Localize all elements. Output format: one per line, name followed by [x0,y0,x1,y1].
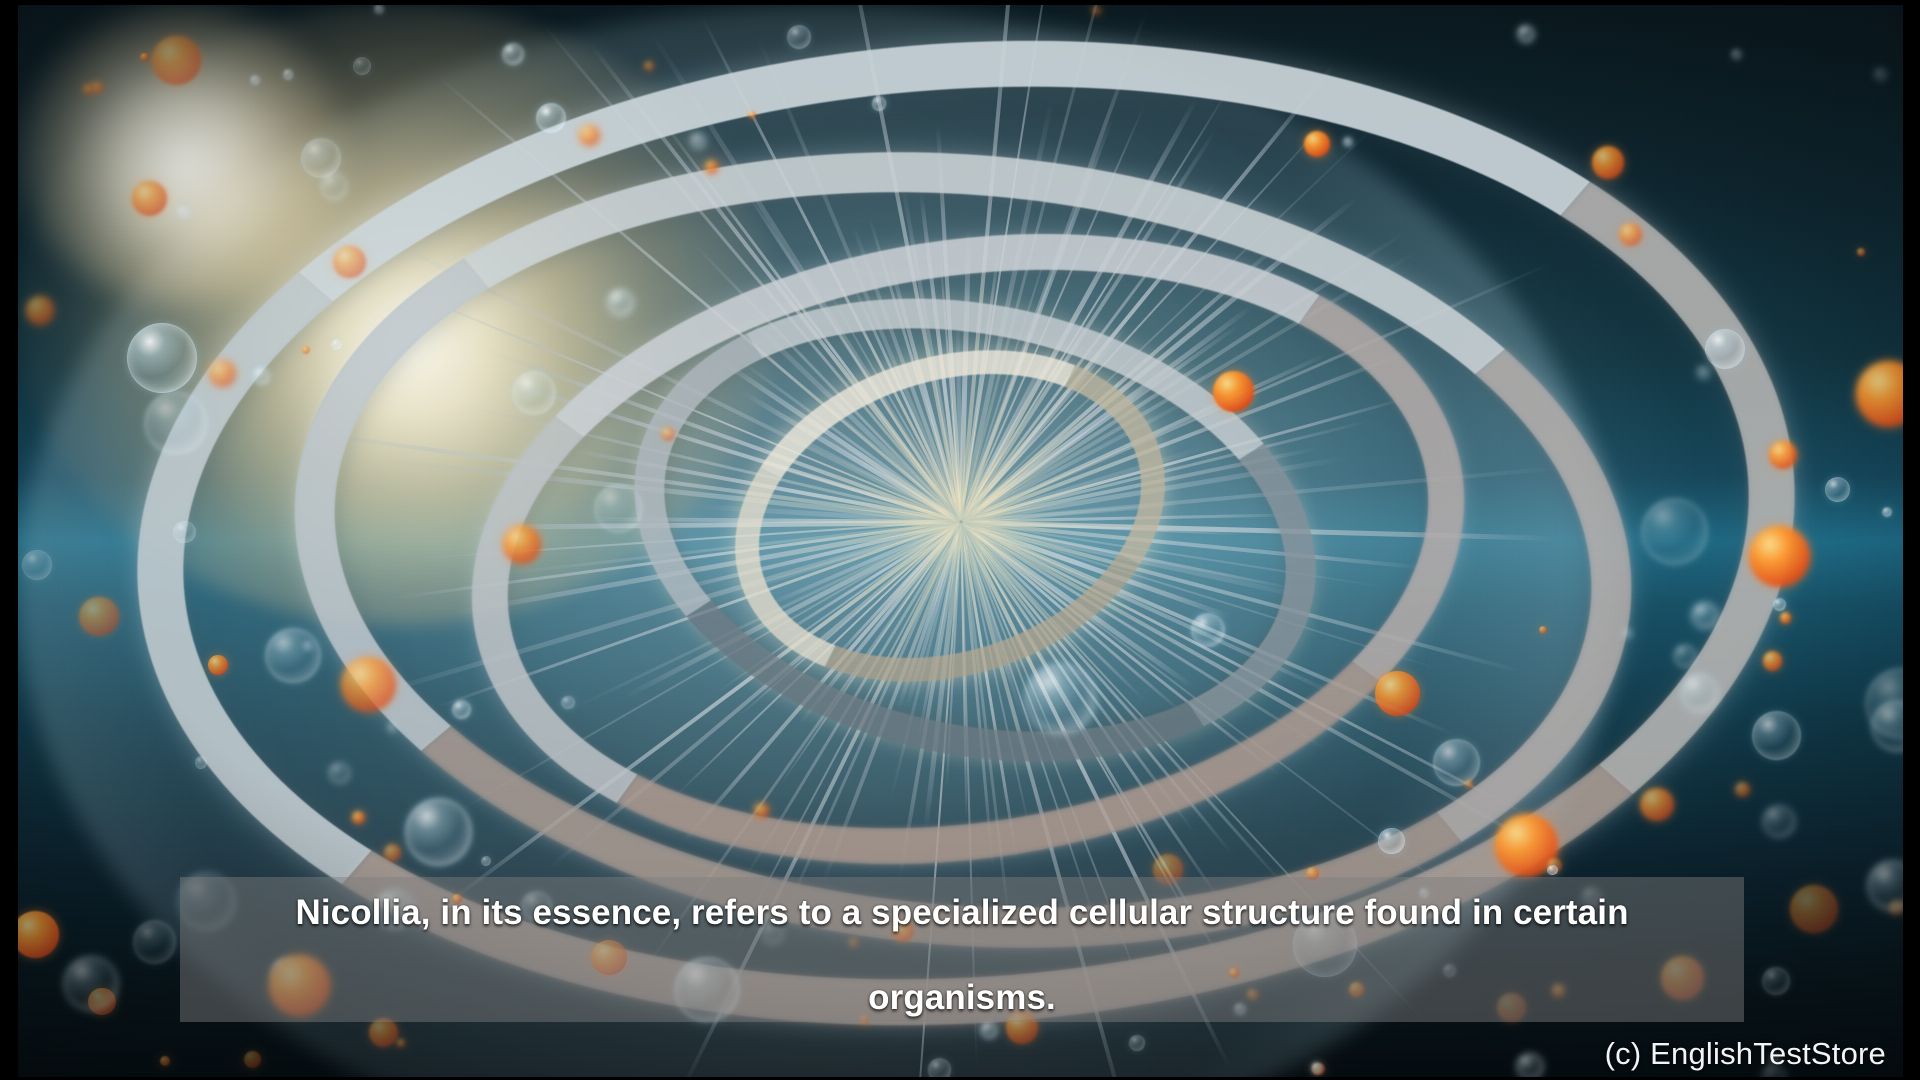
orange-particle [397,1039,405,1047]
orange-particle [152,36,201,85]
bubble-particle [1752,711,1802,761]
orange-particle [1547,858,1562,873]
bubble-particle [1517,25,1535,43]
bubble-particle [1762,967,1789,994]
caption-panel: Nicollia, in its essence, refers to a sp… [180,877,1744,1022]
orange-particle [79,597,119,637]
screenshot-root: Nicollia, in its essence, refers to a sp… [0,0,1920,1080]
bubble-particle [1516,1053,1543,1077]
orange-particle [1889,900,1903,916]
bubble-particle [127,323,198,394]
orange-particle [644,61,654,71]
bubble-particle [353,57,371,75]
orange-particle [1763,651,1783,671]
bubble-particle [502,43,524,65]
orange-particle [84,85,92,93]
bubble-particle [1882,507,1892,517]
bubble-particle [980,1022,997,1039]
orange-particle [1857,248,1865,256]
orange-particle [1856,361,1903,427]
bubble-particle [374,5,384,14]
orange-particle [140,53,148,61]
orange-particle [18,911,59,958]
bubble-particle [301,138,342,179]
bubble-particle [1129,1035,1145,1051]
orange-particle [1735,782,1750,797]
watermark-label: (c) EnglishTestStore [1605,1036,1886,1072]
orange-particle [1780,612,1791,623]
bubble-particle [1874,68,1887,81]
orange-particle [1592,146,1625,179]
bubble-particle [177,206,189,218]
bubble-particle [928,1058,951,1077]
bubble-particle [22,550,51,579]
bubble-particle [1547,865,1558,876]
central-glow-hotspot [18,5,348,305]
bubble-particle [63,956,119,1012]
orange-particle [369,1018,398,1047]
orange-particle [92,83,101,92]
bubble-particle [1311,1062,1323,1074]
bubble-particle [787,25,811,49]
bubble-particle [1865,668,1903,740]
caption-line-1: Nicollia, in its essence, refers to a sp… [295,895,1628,930]
orange-particle [1092,6,1101,15]
orange-particle [132,181,167,216]
orange-particle [1640,788,1673,821]
orange-particle [26,296,55,325]
bubble-particle [320,172,348,200]
orange-particle [160,1056,170,1066]
bubble-particle [283,69,293,79]
bubble-particle [1731,49,1742,60]
bubble-particle [1825,477,1850,502]
bubble-particle [1867,860,1903,911]
bubble-particle [133,920,176,963]
bubble-particle [250,75,260,85]
bubble-particle [1762,805,1796,839]
orange-particle [88,988,115,1015]
bubble-particle [1871,700,1903,752]
orange-particle [1312,1063,1324,1075]
orange-particle [244,1051,261,1068]
caption-line-2: organisms. [868,980,1056,1015]
orange-particle [1790,885,1838,933]
